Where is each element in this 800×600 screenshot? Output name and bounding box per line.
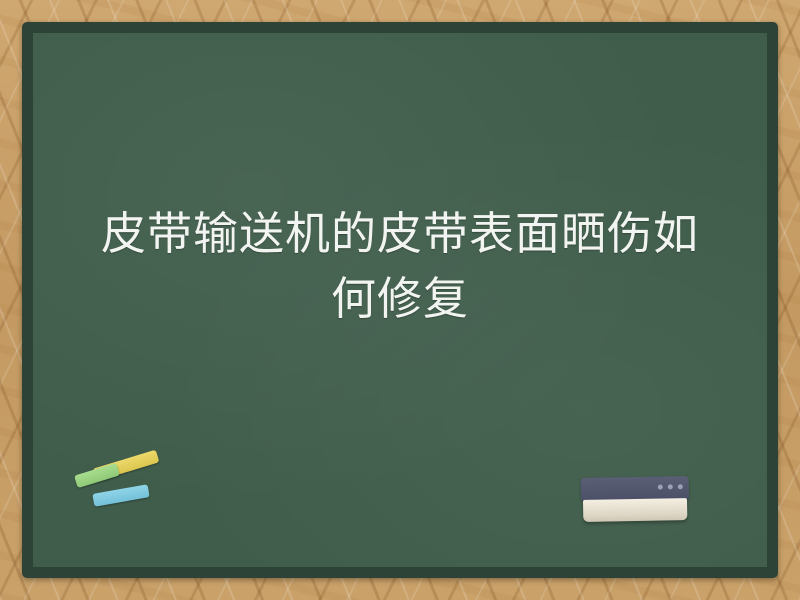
page-title: 皮带输送机的皮带表面晒伤如何修复 <box>79 201 721 332</box>
chalkboard-frame: 皮带输送机的皮带表面晒伤如何修复 <box>22 22 778 578</box>
title-container: 皮带输送机的皮带表面晒伤如何修复 <box>33 201 767 332</box>
eraser-dot-icon <box>678 484 683 489</box>
chalk-sticks-group <box>75 449 215 519</box>
chalk-blue-icon <box>92 484 149 507</box>
eraser-icon <box>581 476 690 526</box>
chalkboard-surface: 皮带输送机的皮带表面晒伤如何修复 <box>33 33 767 567</box>
chalkboard-scene: 皮带输送机的皮带表面晒伤如何修复 <box>0 0 800 600</box>
eraser-handle <box>581 476 689 501</box>
eraser-dot-icon <box>658 485 663 490</box>
eraser-dot-icon <box>668 484 673 489</box>
eraser-felt <box>583 498 687 522</box>
